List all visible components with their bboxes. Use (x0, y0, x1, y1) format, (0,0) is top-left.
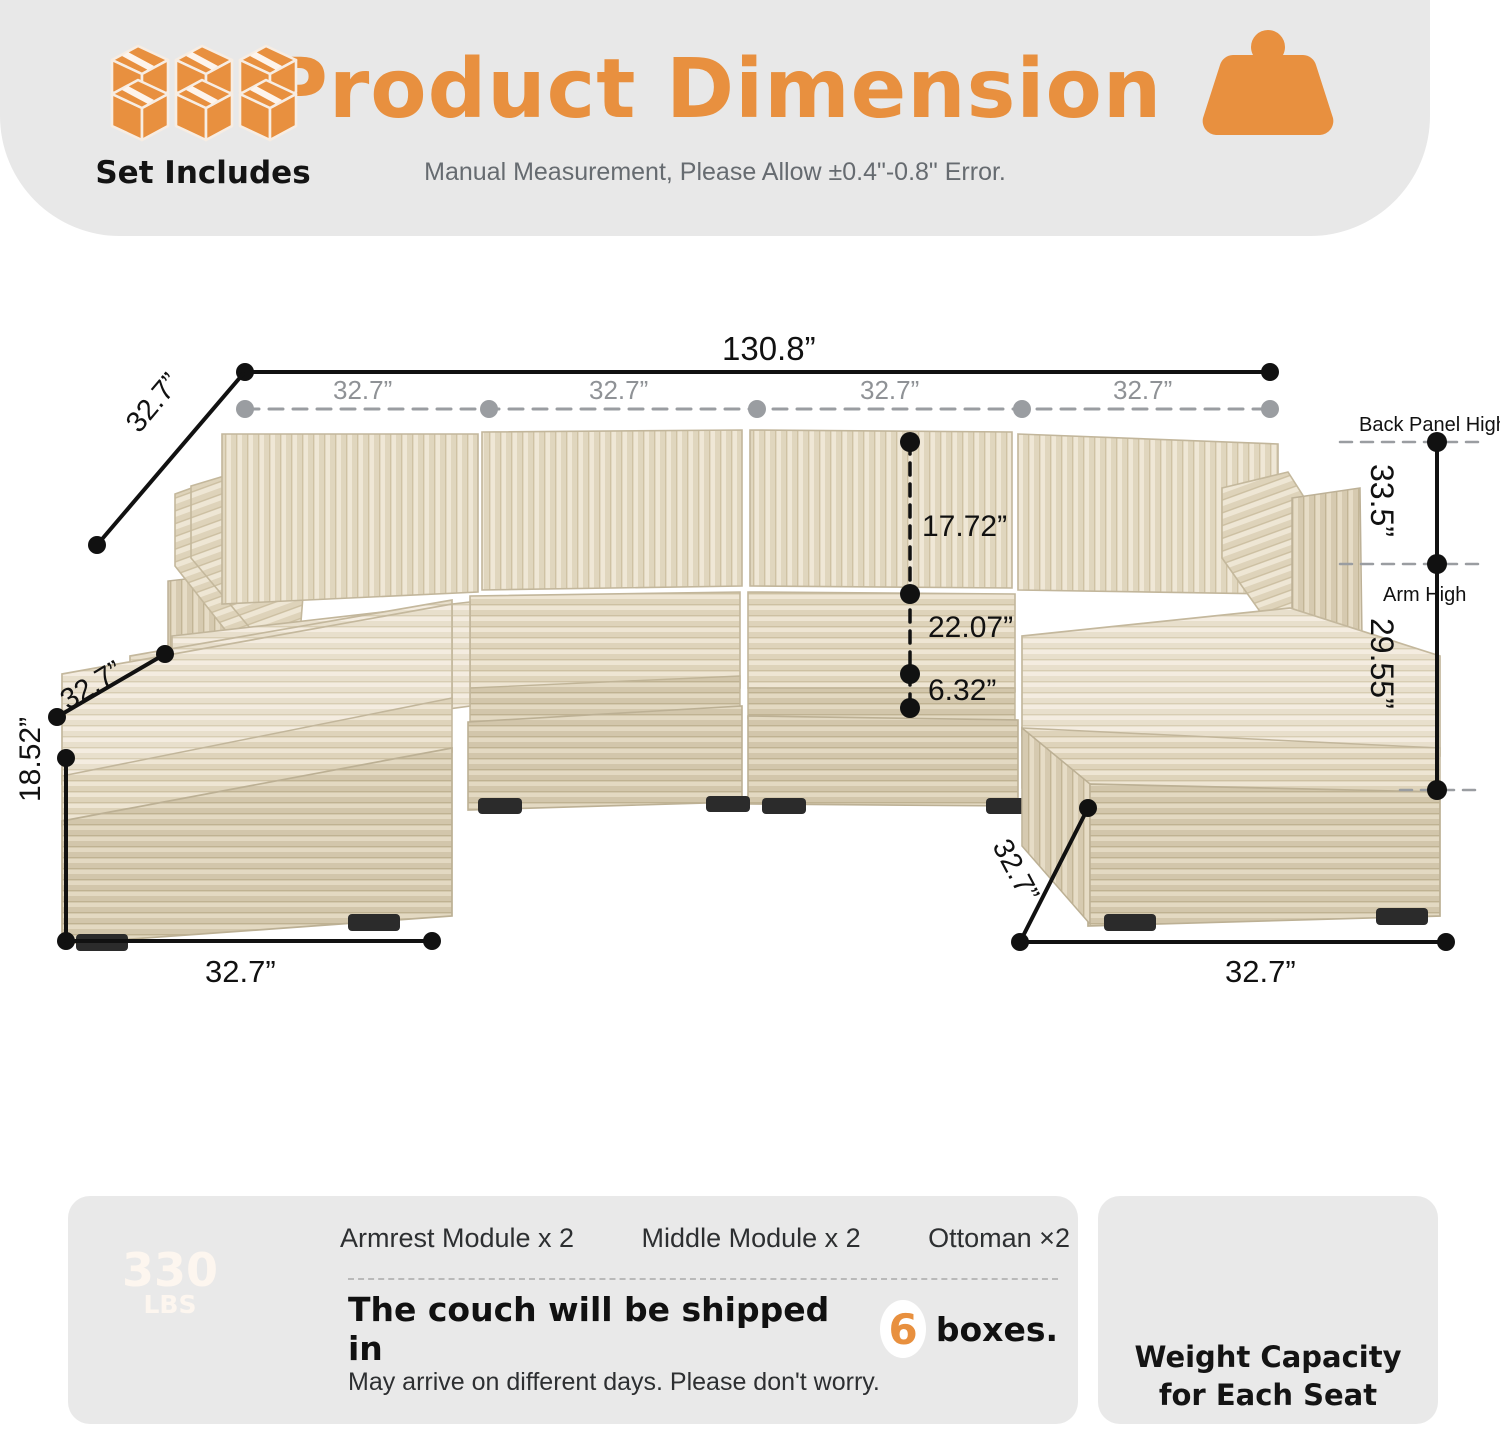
module-item-middle: Middle Module x 2 (642, 1223, 861, 1254)
shipped-note: May arrive on different days. Please don… (348, 1368, 1058, 1397)
label-arm-high: Arm High (1383, 584, 1466, 607)
weight-caption-line1: Weight Capacity (1098, 1340, 1438, 1374)
weight-icon (1098, 20, 1438, 140)
set-includes-label: Set Includes (68, 155, 338, 191)
label-overall-width: 130.8” (722, 330, 816, 368)
sofa-illustration (0, 236, 1500, 1166)
box-count-badge: 6 (880, 1300, 926, 1358)
module-item-armrest: Armrest Module x 2 (340, 1223, 574, 1254)
label-seat-cushion-height: 6.32” (928, 674, 996, 708)
label-back-panel-high: Back Panel High (1359, 414, 1500, 437)
module-item-ottoman: Ottoman ×2 (928, 1223, 1070, 1254)
middle-module-bases (468, 706, 1030, 814)
label-segment-2: 32.7” (589, 375, 648, 406)
boxes-icon (108, 38, 300, 148)
dimension-diagram: 130.8” 32.7” 32.7” 32.7” 32.7” 32.7” 32.… (0, 236, 1500, 1166)
left-chaise-module (62, 600, 470, 951)
label-seat-height: 22.07” (928, 611, 1013, 645)
shipped-suffix: boxes. (936, 1310, 1058, 1349)
modules-row: Armrest Module x 2 Middle Module x 2 Ott… (340, 1218, 1070, 1258)
weight-caption-line2: for Each Seat (1098, 1378, 1438, 1412)
label-left-bottom-width: 32.7” (205, 954, 276, 990)
label-arm-value: 29.55” (1363, 618, 1400, 709)
label-segment-1: 32.7” (333, 375, 392, 406)
label-right-bottom-width: 32.7” (1225, 954, 1296, 990)
dashed-divider (348, 1278, 1058, 1280)
shipped-prefix: The couch will be shipped in (348, 1290, 870, 1368)
label-segment-3: 32.7” (860, 375, 919, 406)
label-segment-4: 32.7” (1113, 375, 1172, 406)
sofa-body (62, 430, 1440, 951)
label-back-cushion-height: 17.72” (922, 510, 1007, 544)
label-back-panel-value: 33.5” (1363, 464, 1400, 537)
shipped-in-boxes-line: The couch will be shipped in 6 boxes. (348, 1300, 1058, 1358)
label-left-height: 18.52” (14, 717, 48, 802)
